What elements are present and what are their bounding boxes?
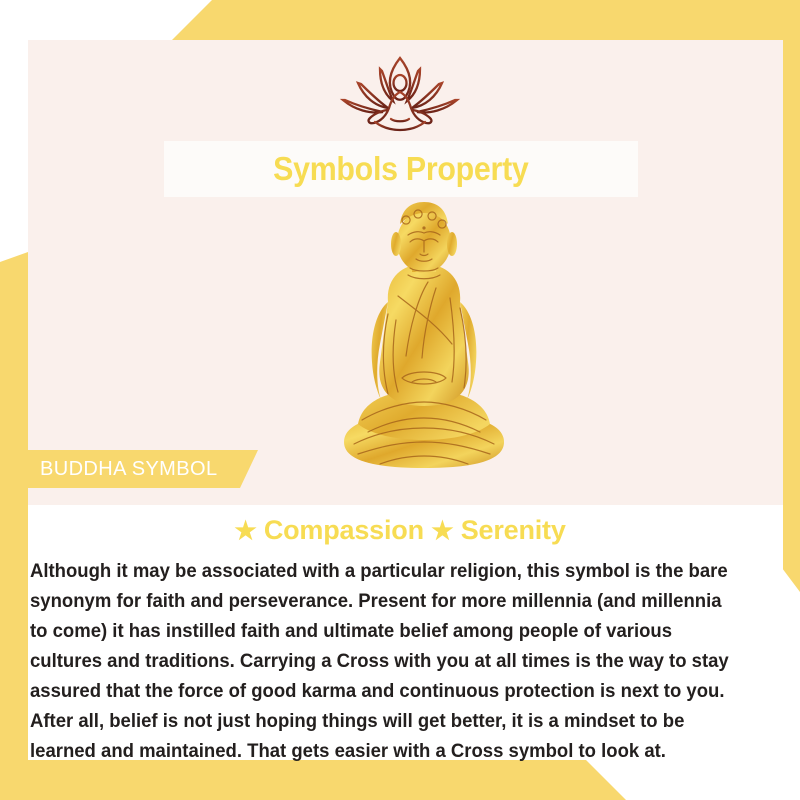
decorative-band-bottom [0,760,800,800]
section-ribbon: BUDDHA SYMBOL [18,450,258,488]
star-icon-left: ★ [234,517,256,545]
content-headline: ★ Compassion ★ Serenity [0,515,800,546]
poster-root: BUDDHA STONES Symbols Property [0,0,800,800]
page-title: Symbols Property [273,150,528,188]
lotus-meditation-icon [325,52,475,134]
section-ribbon-label: BUDDHA SYMBOL [40,458,217,481]
star-icon-right: ★ [431,517,453,545]
headline-term-one: Compassion [264,515,424,545]
decorative-band-top [0,0,800,40]
content-paragraph: Although it may be associated with a par… [30,556,739,766]
headline-term-two: Serenity [461,515,566,545]
title-banner: Symbols Property [164,141,638,197]
golden-seated-buddha-statue [332,202,516,487]
